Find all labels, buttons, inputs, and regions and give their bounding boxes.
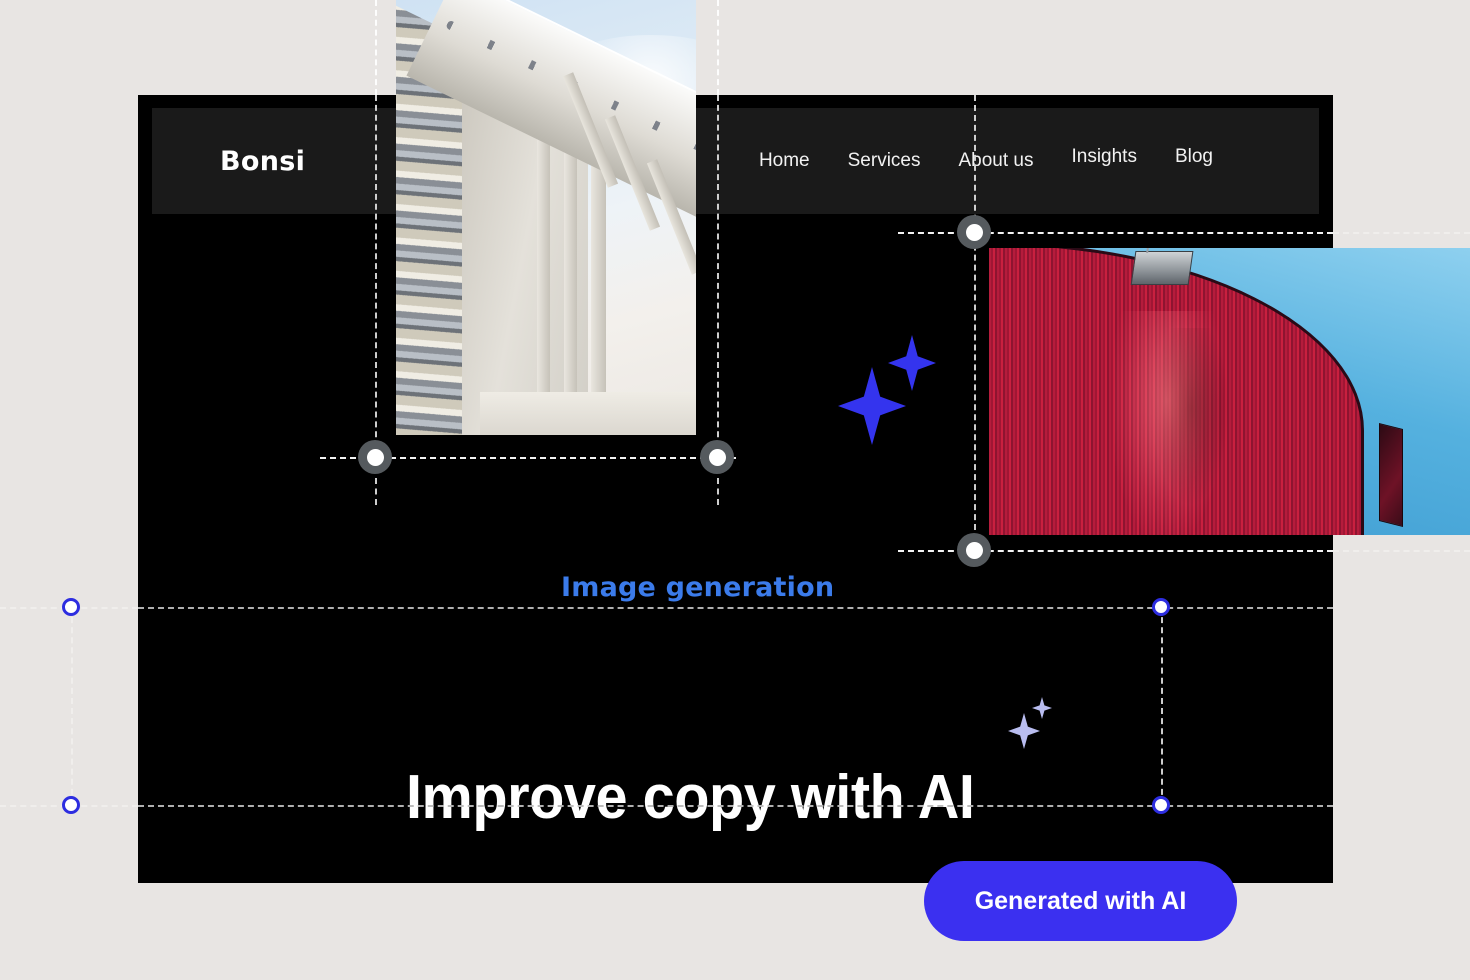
handle-dot bbox=[966, 224, 983, 241]
red-building-image[interactable] bbox=[989, 248, 1470, 535]
handle-image-bottom-left[interactable] bbox=[957, 533, 991, 567]
sparkle-icon-lavender-small bbox=[1032, 697, 1052, 719]
nav-item-about-us[interactable]: About us bbox=[952, 148, 1039, 174]
guide-vertical-text-left bbox=[71, 607, 73, 805]
sparkle-small-lavender-group bbox=[1008, 697, 1064, 747]
guide-horizontal-image-top-right bbox=[1333, 232, 1470, 234]
guide-horizontal-image-bottom-right bbox=[1333, 550, 1470, 552]
handle-text-bottom-right[interactable] bbox=[1152, 796, 1170, 814]
handle-dot bbox=[966, 542, 983, 559]
handle-imagegen-left[interactable] bbox=[358, 440, 392, 474]
handle-dot bbox=[709, 449, 726, 466]
website-navbar: Bonsi Home Services About us Insights Bl… bbox=[152, 108, 1319, 214]
handle-imagegen-right[interactable] bbox=[700, 440, 734, 474]
handle-image-top-left[interactable] bbox=[957, 215, 991, 249]
architecture-building-image[interactable] bbox=[396, 0, 696, 435]
sparkle-large-blue-group bbox=[838, 335, 938, 445]
nav-item-insights[interactable]: Insights bbox=[1065, 144, 1142, 170]
handle-text-top-right[interactable] bbox=[1152, 598, 1170, 616]
handle-dot bbox=[367, 449, 384, 466]
nav-item-services[interactable]: Services bbox=[842, 148, 927, 174]
nav-links: Home Services About us Insights Blog bbox=[753, 148, 1219, 174]
image-generation-label[interactable]: Image generation bbox=[561, 572, 834, 603]
hero-headline[interactable]: Improve copy with AI bbox=[406, 762, 974, 833]
sparkle-icon-lavender-large bbox=[1008, 713, 1040, 749]
handle-text-bottom-left[interactable] bbox=[62, 796, 80, 814]
guide-vertical-right-outer bbox=[717, 0, 719, 95]
guide-vertical-text-right bbox=[1161, 607, 1163, 805]
sparkle-icon-medium bbox=[888, 335, 936, 391]
editor-stage: Bonsi Home Services About us Insights Bl… bbox=[0, 0, 1470, 980]
generated-with-ai-button[interactable]: Generated with AI bbox=[924, 861, 1237, 941]
brand-logo[interactable]: Bonsi bbox=[220, 146, 305, 177]
nav-item-home[interactable]: Home bbox=[753, 148, 816, 174]
sparkle-icon-large bbox=[838, 367, 906, 445]
nav-item-blog[interactable]: Blog bbox=[1169, 144, 1219, 170]
guide-vertical-left-outer bbox=[375, 0, 377, 95]
handle-text-top-left[interactable] bbox=[62, 598, 80, 616]
